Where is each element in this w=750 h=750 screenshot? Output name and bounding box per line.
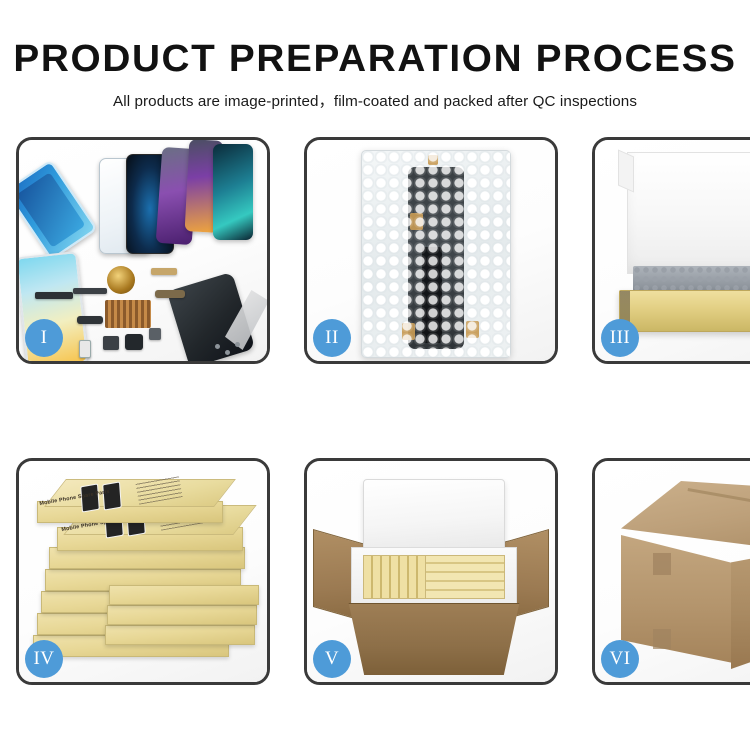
vibrator-part bbox=[125, 334, 143, 350]
bubble-wrap-bag bbox=[361, 150, 511, 358]
step-badge-v: V bbox=[313, 640, 351, 678]
step-badge-iv: IV bbox=[25, 640, 63, 678]
product-preparation-page: PRODUCT PREPARATION PROCESS All products… bbox=[0, 0, 750, 750]
stacked-box-r4 bbox=[105, 625, 255, 645]
carton-body bbox=[337, 603, 531, 675]
sealed-carton-top bbox=[621, 481, 750, 547]
sim-tray-part bbox=[79, 340, 91, 358]
small-connector-part bbox=[149, 328, 161, 340]
tape-tab-4 bbox=[428, 155, 438, 165]
foam-box-lid bbox=[363, 479, 505, 557]
tape-tab-2 bbox=[402, 323, 415, 340]
step-card-iv: Mobile Phone Spare Parts Mobile Phone Sp… bbox=[16, 458, 270, 685]
screw-2 bbox=[225, 350, 230, 355]
antenna-strip-part bbox=[35, 292, 73, 299]
flex-cable-part-4 bbox=[151, 268, 177, 275]
step-card-iii: III bbox=[592, 137, 750, 364]
step-badge-vi: VI bbox=[601, 640, 639, 678]
step-badge-iii: III bbox=[601, 319, 639, 357]
step-card-vi: VI bbox=[592, 458, 750, 685]
wrapped-flex-cable bbox=[422, 247, 442, 343]
adhesive-frame-blue bbox=[19, 160, 98, 261]
page-subtitle: All products are image-printed，film-coat… bbox=[0, 89, 750, 111]
stacked-box-r2 bbox=[109, 585, 259, 605]
flex-cable-part-2 bbox=[77, 316, 103, 324]
flex-cable-part-3 bbox=[155, 290, 185, 298]
tape-tab-1 bbox=[410, 213, 423, 230]
step-badge-ii: II bbox=[313, 319, 351, 357]
chip-array-part bbox=[105, 300, 151, 328]
phone-teal bbox=[213, 144, 253, 240]
process-steps-grid: I II I bbox=[16, 137, 734, 685]
flex-cable-part-1 bbox=[73, 288, 107, 294]
step-card-i: I bbox=[16, 137, 270, 364]
page-title: PRODUCT PREPARATION PROCESS bbox=[0, 40, 750, 80]
screw-1 bbox=[215, 344, 220, 349]
white-box-lid bbox=[627, 152, 750, 274]
sealed-carton-front bbox=[621, 535, 733, 663]
step-card-ii: II bbox=[304, 137, 558, 364]
stacked-boxes: Mobile Phone Spare Parts Mobile Phone Sp… bbox=[27, 475, 267, 681]
page-header: PRODUCT PREPARATION PROCESS All products… bbox=[0, 0, 750, 111]
step-card-v: V bbox=[304, 458, 558, 685]
box-print-image-a2 bbox=[102, 481, 122, 510]
stacked-box-r3 bbox=[107, 605, 257, 625]
carton-tape-lower bbox=[653, 629, 671, 649]
camera-module-part bbox=[103, 336, 119, 350]
carton-tape-upper bbox=[653, 553, 671, 575]
tape-tab-3 bbox=[466, 321, 479, 338]
speaker-coil-part bbox=[107, 266, 135, 294]
step-badge-i: I bbox=[25, 319, 63, 357]
sealed-carton-side bbox=[731, 545, 750, 669]
kraft-box-base bbox=[619, 290, 750, 332]
screw-3 bbox=[235, 342, 240, 347]
packed-boxes-row-2 bbox=[425, 555, 505, 599]
